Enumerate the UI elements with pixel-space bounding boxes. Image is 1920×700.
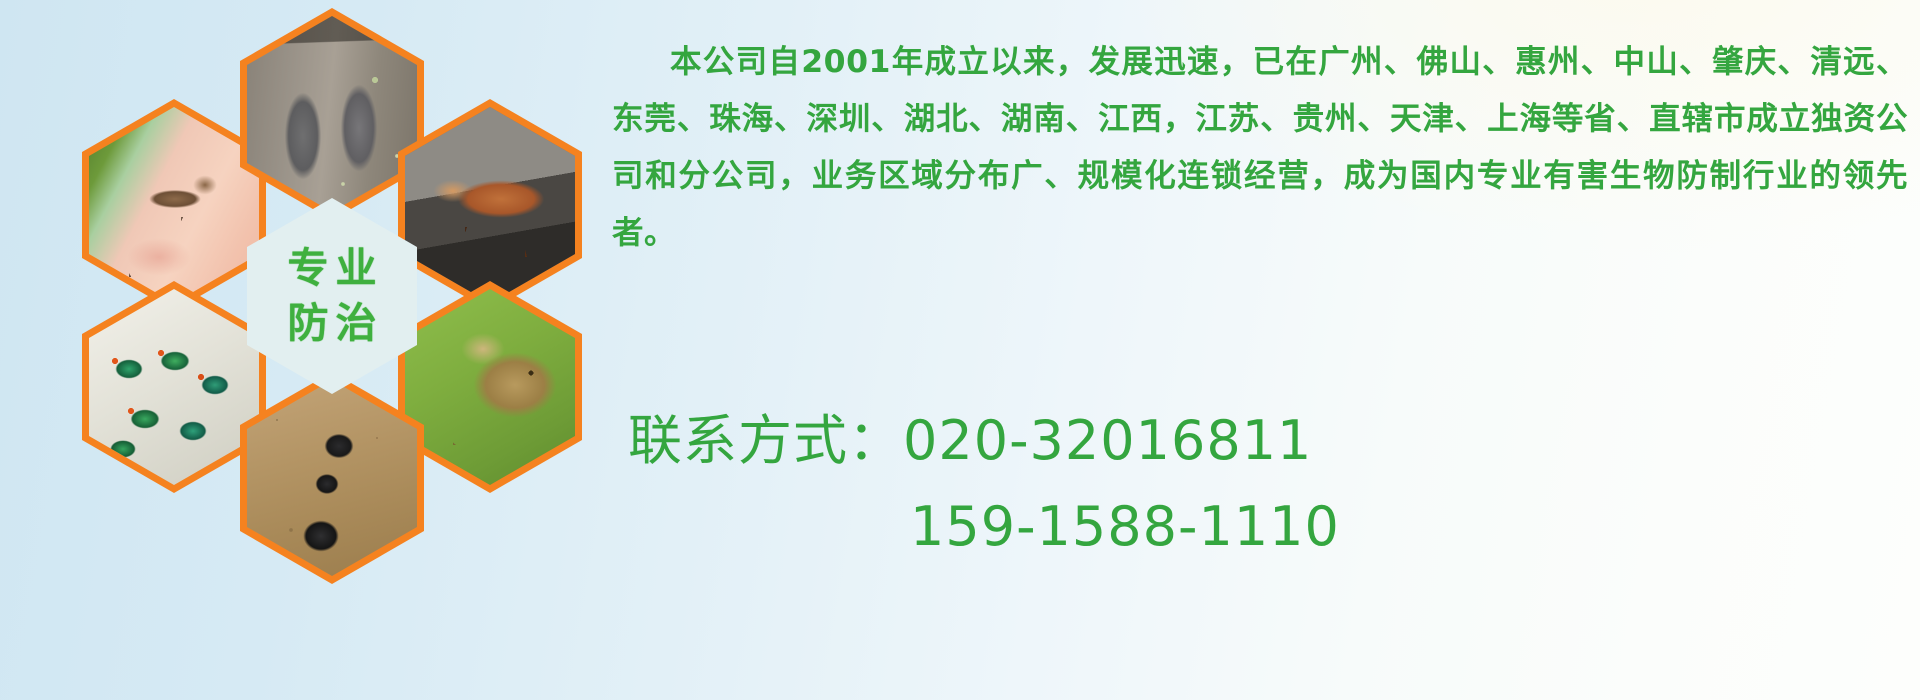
contact-label: 联系方式： <box>628 409 903 472</box>
rodent-photo <box>247 16 417 212</box>
honeycomb-gallery: 专业 防治 <box>76 0 596 572</box>
slogan-text: 专业 防治 <box>281 241 384 352</box>
contact-mobile[interactable]: 159-1588-1110 <box>628 484 1918 570</box>
hex-inner <box>405 289 575 485</box>
ant-photo <box>247 380 417 576</box>
slogan-line-1: 专业 <box>281 241 384 296</box>
contact-landline[interactable]: 020-32016811 <box>903 409 1312 472</box>
hex-inner <box>89 289 259 485</box>
slogan-line-2: 防治 <box>281 296 384 351</box>
cockroach-photo <box>405 107 575 303</box>
hex-cell-cockroach[interactable] <box>398 99 582 311</box>
hex-inner <box>247 16 417 212</box>
mosquito-photo <box>89 107 259 303</box>
intro-block: 本公司自2001年成立以来，发展迅速，已在广州、佛山、惠州、中山、肇庆、清远、东… <box>612 34 1908 262</box>
hex-cell-slogan: 专业 防治 <box>240 190 424 402</box>
contact-block: 联系方式：020-32016811 159-1588-1110 <box>628 398 1918 570</box>
hex-cell-stink-bug[interactable] <box>398 281 582 493</box>
hex-inner <box>405 107 575 303</box>
hex-inner <box>89 107 259 303</box>
flies-photo <box>89 289 259 485</box>
hex-cell-rodent[interactable] <box>240 8 424 220</box>
stink-bug-photo <box>405 289 575 485</box>
hex-cell-ant[interactable] <box>240 372 424 584</box>
hex-inner <box>247 380 417 576</box>
banner-root: 专业 防治 本公司自2001年成立以来，发展迅速，已在广州、佛山、惠州、中山、肇… <box>0 0 1920 700</box>
hex-cell-flies[interactable] <box>82 281 266 493</box>
intro-paragraph: 本公司自2001年成立以来，发展迅速，已在广州、佛山、惠州、中山、肇庆、清远、东… <box>612 34 1908 262</box>
hex-cell-mosquito[interactable] <box>82 99 266 311</box>
hex-inner: 专业 防治 <box>247 198 417 394</box>
